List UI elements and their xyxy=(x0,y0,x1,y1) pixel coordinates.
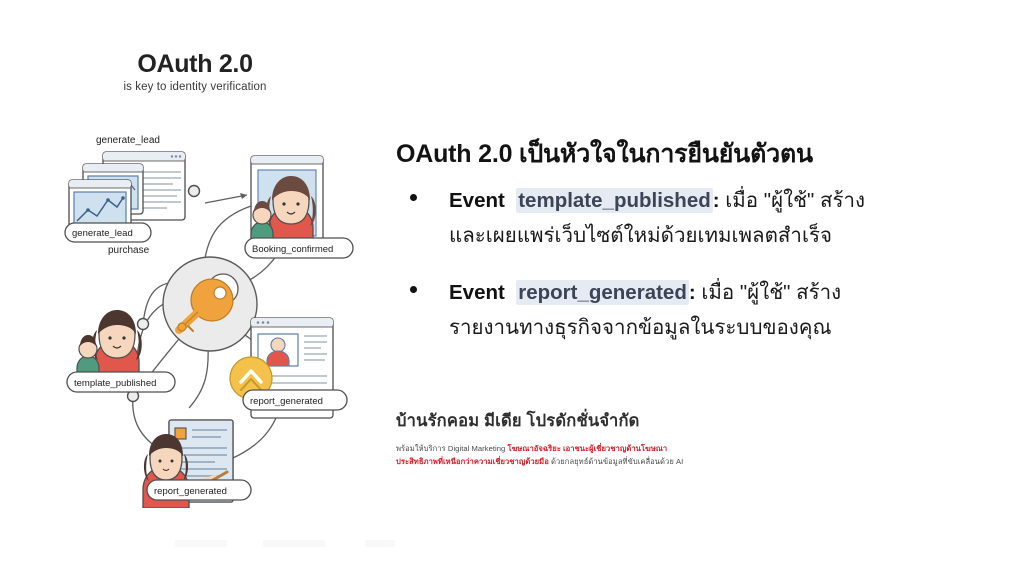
event-colon: : xyxy=(713,189,720,212)
page-title: OAuth 2.0 เป็นหัวใจในการยืนยันตัวตน xyxy=(396,134,813,174)
bullet-marker-icon xyxy=(410,194,417,201)
booking-confirmed-icon: Booking_confirmed xyxy=(205,156,353,258)
bullet-list: Event template_published: เมื่อ "ผู้ใช้"… xyxy=(396,183,996,367)
key-hub-icon xyxy=(163,257,257,351)
event-keyword: Event xyxy=(449,281,505,304)
illustration-subtitle: is key to identity verification xyxy=(0,81,390,93)
content-panel: OAuth 2.0 เป็นหัวใจในการยืนยันตัวตน Even… xyxy=(390,0,1024,576)
template-published-icon: template_published xyxy=(67,310,175,392)
event-code-token: template_published xyxy=(516,188,713,213)
illustration-title: OAuth 2.0 xyxy=(0,50,390,79)
oauth-flow-illustration: .ln { fill:none; stroke:#5f5f5f; stroke-… xyxy=(55,128,385,508)
event-colon: : xyxy=(689,281,696,304)
svg-text:generate_lead: generate_lead xyxy=(72,228,133,239)
tagline-2-red: ประสิทธิภาพที่เหนือกว่าความเชี่ยวชาญด้วย… xyxy=(396,457,551,466)
svg-text:report_generated: report_generated xyxy=(250,396,323,407)
bullet-line-2: และเผยแพร่เว็บไซต์ใหม่ด้วยเทมเพลตสำเร็จ xyxy=(449,219,996,253)
purchase-label: purchase xyxy=(108,245,150,256)
tagline-1-gray: พร้อมให้บริการ Digital Marketing xyxy=(396,444,507,453)
branding-tagline-2: ประสิทธิภาพที่เหนือกว่าความเชี่ยวชาญด้วย… xyxy=(396,455,996,468)
branding-block: บ้านรักคอม มีเดีย โปรดักชั่นจำกัด พร้อมใ… xyxy=(396,408,996,468)
bullet-line-2: รายงานทางธุรกิจจากข้อมูลในระบบของคุณ xyxy=(449,311,996,345)
faint-bottom-artifact xyxy=(175,540,435,548)
bullet-line-1: Event report_generated: เมื่อ "ผู้ใช้" ส… xyxy=(449,275,996,311)
bullet-marker-icon xyxy=(410,286,417,293)
event-description-lead: เมื่อ "ผู้ใช้" สร้าง xyxy=(701,281,841,304)
svg-text:generate_lead: generate_lead xyxy=(96,135,160,146)
report-generated-presenter-icon: report_generated xyxy=(143,420,251,508)
tagline-2-gray: ด้วยกลยุทธ์ด้านข้อมูลที่ขับเคลื่อนด้วย A… xyxy=(551,457,683,466)
illustration-panel: OAuth 2.0 is key to identity verificatio… xyxy=(0,0,390,576)
generate-lead-windows-icon: generate_lead xyxy=(65,135,185,242)
event-description-lead: เมื่อ "ผู้ใช้" สร้าง xyxy=(725,189,865,212)
event-code-token: report_generated xyxy=(516,280,689,305)
list-item: Event template_published: เมื่อ "ผู้ใช้"… xyxy=(396,183,996,253)
bullet-line-1: Event template_published: เมื่อ "ผู้ใช้"… xyxy=(449,183,996,219)
svg-text:template_published: template_published xyxy=(74,378,156,389)
event-keyword: Event xyxy=(449,189,505,212)
svg-text:report_generated: report_generated xyxy=(154,486,227,497)
list-item: Event report_generated: เมื่อ "ผู้ใช้" ส… xyxy=(396,275,996,345)
company-name: บ้านรักคอม มีเดีย โปรดักชั่นจำกัด xyxy=(396,408,996,434)
svg-text:Booking_confirmed: Booking_confirmed xyxy=(252,244,333,255)
tagline-1-red: โฆษณาอัจฉริยะ เอาชนะผู้เชี่ยวชาญด้านโฆษณ… xyxy=(507,444,667,453)
branding-tagline-1: พร้อมให้บริการ Digital Marketing โฆษณาอั… xyxy=(396,442,996,455)
